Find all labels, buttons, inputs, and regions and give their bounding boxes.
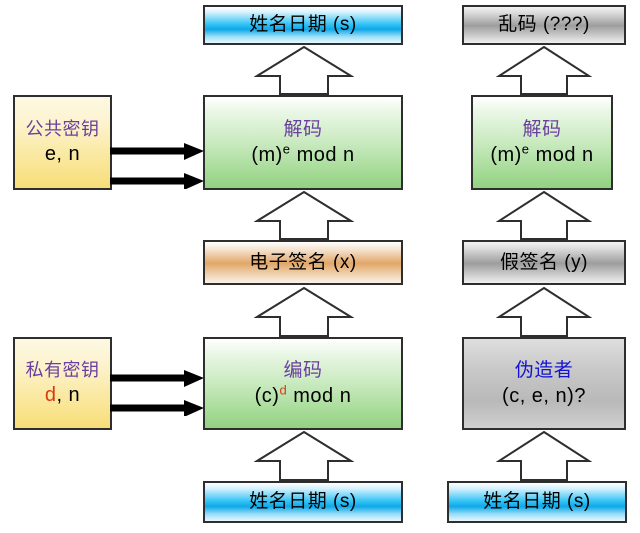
right-input-plaintext-label: 姓名日期 (s) [483,491,590,512]
right-decode-formula-tail: mod n [530,144,594,166]
right-input-plaintext-box: 姓名日期 (s) [447,481,627,523]
left-decode-formula-base: (m) [251,144,282,166]
right-arrow-input-to-forger [496,431,592,481]
right-decode-formula-base: (m) [490,144,521,166]
right-decode-formula-exponent: e [522,141,530,156]
left-signature-box: 电子签名 (x) [203,240,403,285]
right-decode-box: 解码 (m)e mod n [471,95,613,190]
left-encode-formula-tail: mod n [287,385,351,407]
right-arrow-forger-to-fakesig [496,287,592,337]
right-fake-signature-box: 假签名 (y) [462,240,626,285]
right-forger-title: 伪造者 [515,360,574,381]
public-key-to-decode-arrows [110,143,206,189]
left-decode-box: 解码 (m)e mod n [203,95,403,190]
left-decode-formula: (m)e mod n [251,144,354,166]
private-key-value-exponent: d [45,384,57,406]
left-encode-formula: (c)d mod n [255,385,352,407]
left-decode-title: 解码 [283,119,322,140]
left-signature-label: 电子签名 (x) [249,252,356,273]
left-output-plaintext-label: 姓名日期 (s) [249,14,356,35]
left-encode-title: 编码 [283,360,322,381]
right-arrow-fakesig-to-decode [496,191,592,240]
left-arrow-encode-to-signature [254,287,354,337]
private-key-title: 私有密钥 [26,360,100,380]
right-forger-box: 伪造者 (c, e, n)? [462,337,626,430]
public-key-title: 公共密钥 [26,119,100,139]
left-encode-box: 编码 (c)d mod n [203,337,403,430]
private-key-value: d, n [45,384,80,406]
public-key-box: 公共密钥 e, n [13,95,112,190]
left-decode-formula-tail: mod n [291,144,355,166]
left-encode-formula-base: (c) [255,385,280,407]
right-fake-signature-label: 假签名 (y) [500,252,588,273]
right-decode-title: 解码 [522,119,561,140]
left-output-plaintext-box: 姓名日期 (s) [203,5,403,45]
left-arrow-signature-to-decode [254,191,354,240]
diagram-canvas: 姓名日期 (s) 解码 (m)e mod n 公共密钥 e, n 电子签名 (x… [0,0,640,533]
right-output-garbage-label: 乱码 (???) [498,14,590,35]
private-key-box: 私有密钥 d, n [13,337,112,430]
left-input-plaintext-box: 姓名日期 (s) [203,481,403,523]
left-arrow-decode-to-output [254,46,354,95]
private-key-value-tail: , n [56,384,80,406]
public-key-value: e, n [45,143,80,165]
left-input-plaintext-label: 姓名日期 (s) [249,491,356,512]
left-arrow-input-to-encode [254,431,354,481]
right-decode-formula: (m)e mod n [490,144,593,166]
right-arrow-decode-to-output [496,46,592,95]
right-output-garbage-box: 乱码 (???) [462,5,626,45]
left-decode-formula-exponent: e [283,141,291,156]
right-forger-subtitle: (c, e, n)? [502,385,586,407]
private-key-to-encode-arrows [110,370,206,416]
